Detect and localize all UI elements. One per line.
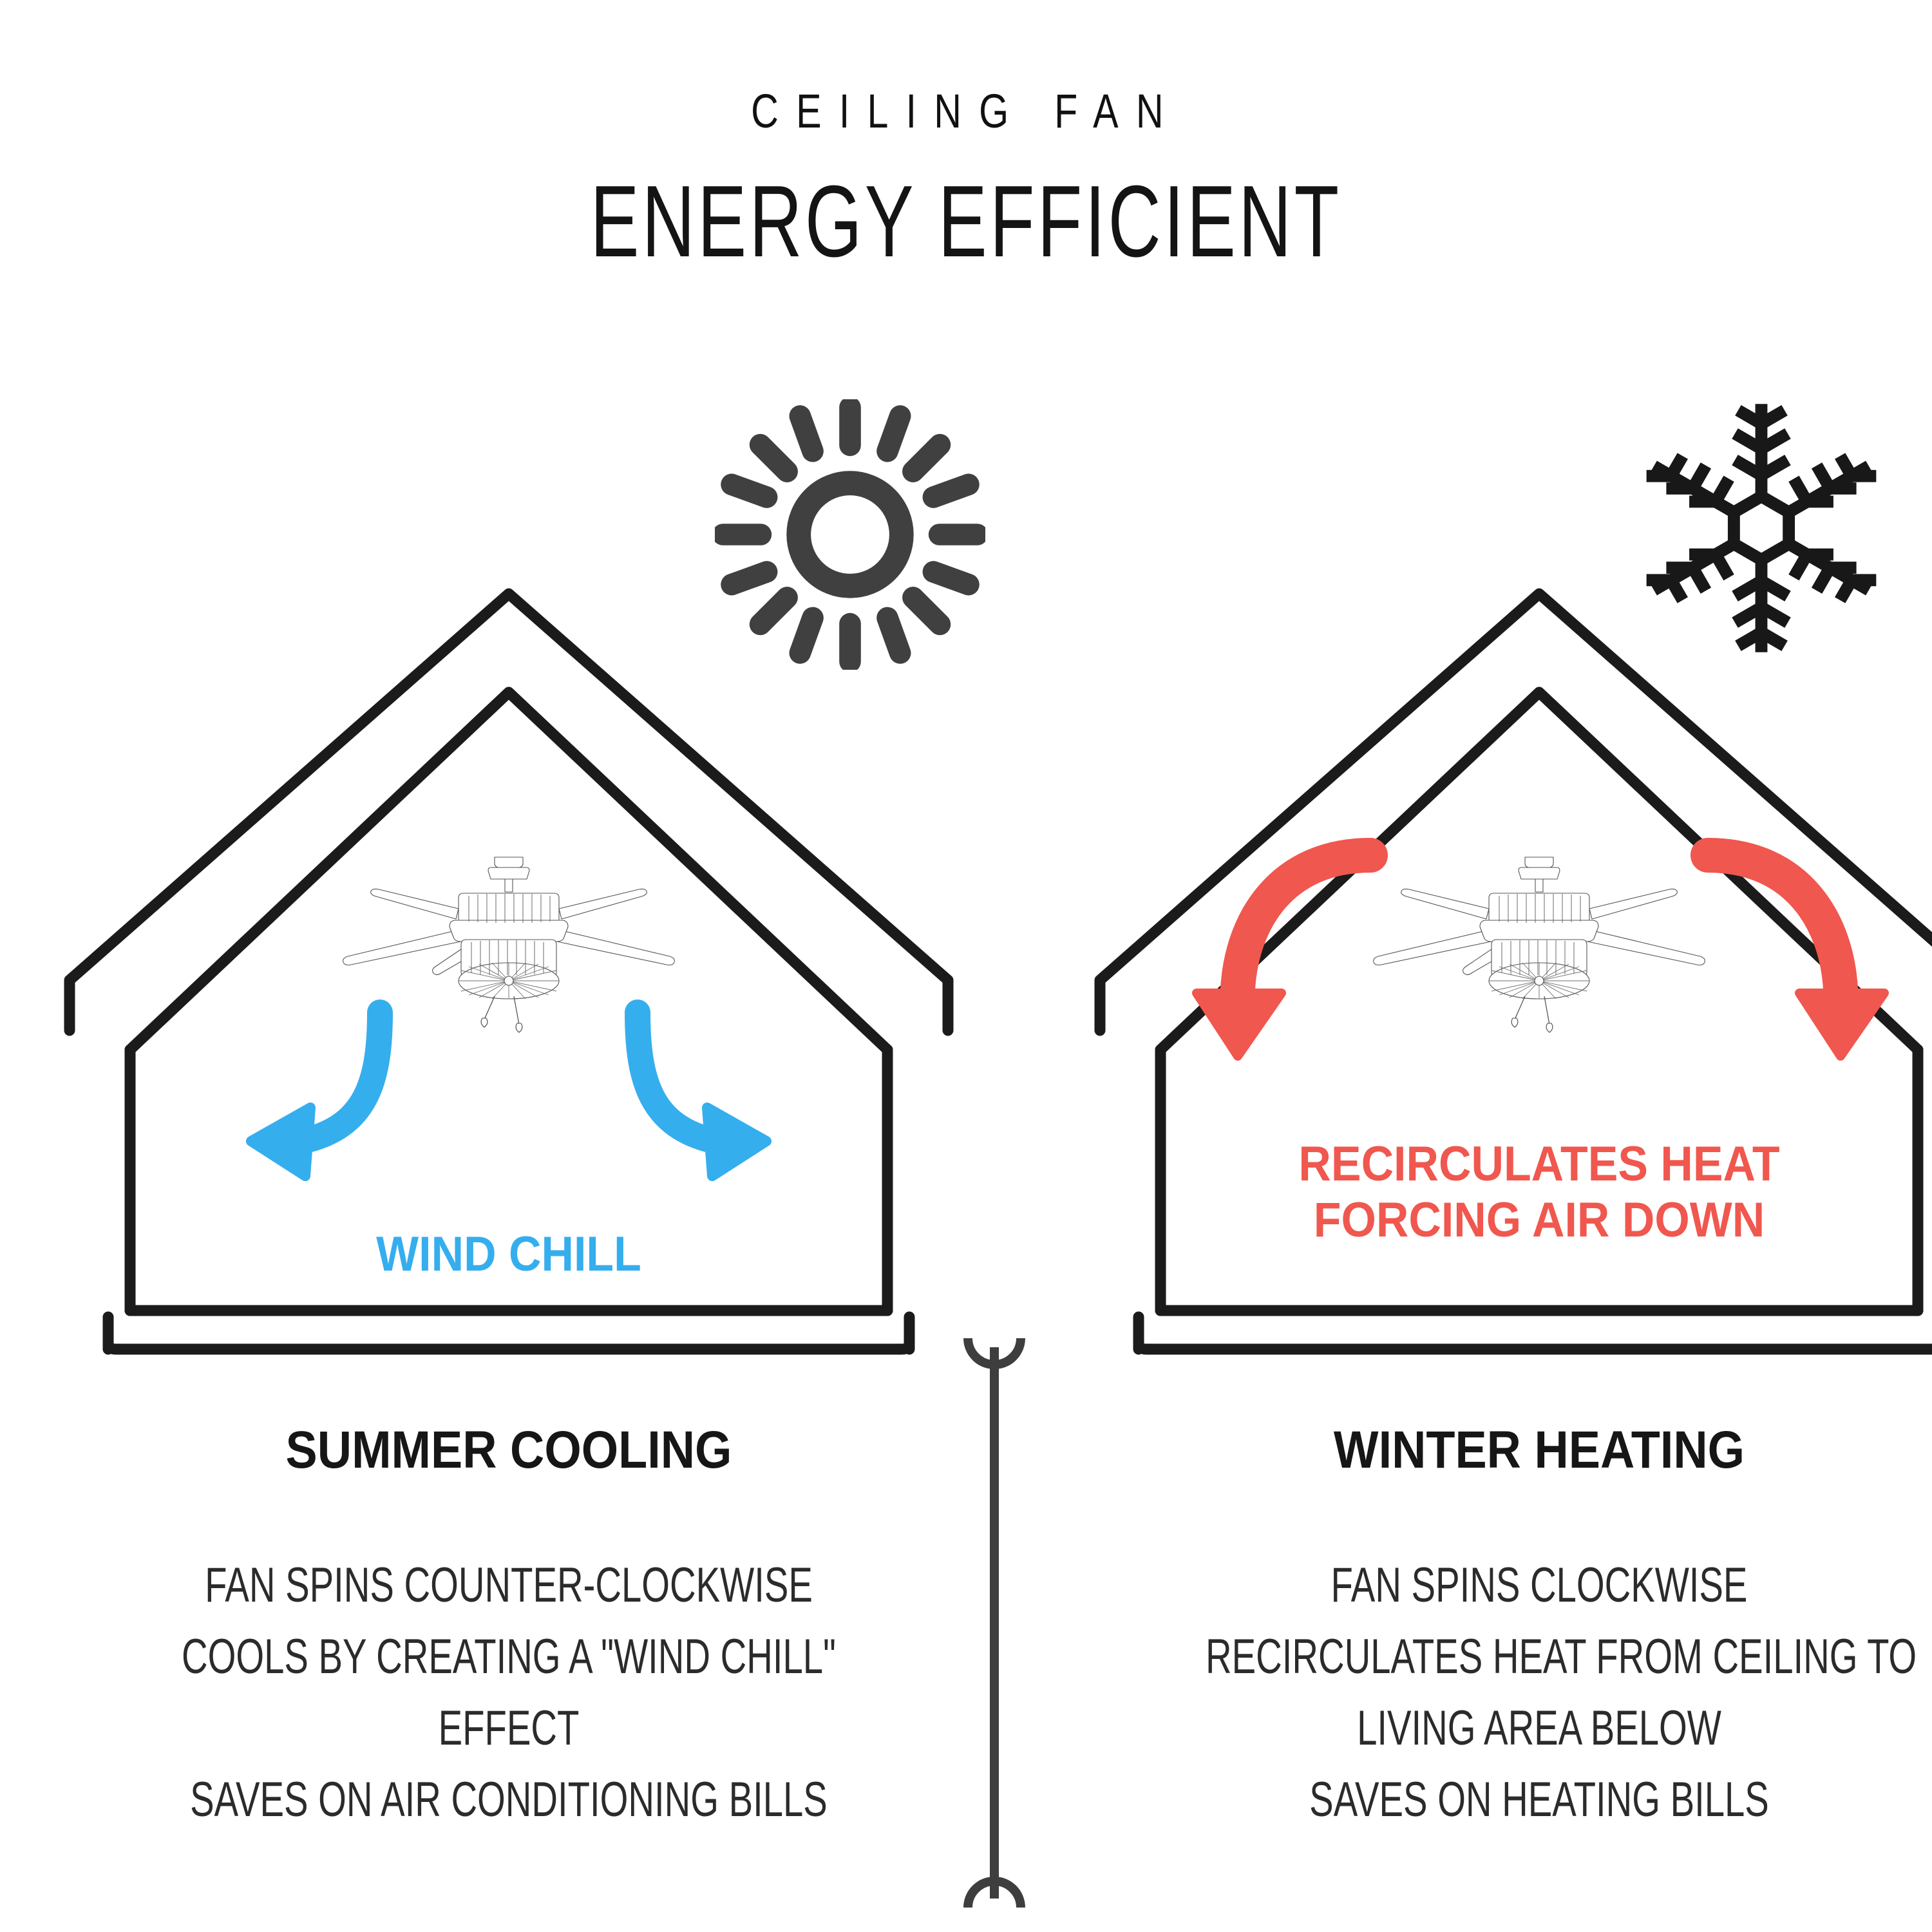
infographic-canvas: CEILING FAN ENERGY EFFICIENT	[0, 0, 1932, 1932]
caption-winter: WINTER HEATING FAN SPINS CLOCKWISE RECIR…	[1088, 1420, 1932, 1836]
ceiling-fan-illustration-summer	[309, 853, 708, 1034]
caption-summer: SUMMER COOLING FAN SPINS COUNTER-CLOCKWI…	[58, 1420, 960, 1836]
callout-summer-line-1: WIND CHILL	[94, 1227, 923, 1283]
caption-summer-line-3: EFFECT	[175, 1693, 842, 1765]
caption-summer-line-2: COOLS BY CREATING A "WIND CHILL"	[175, 1622, 842, 1693]
callout-winter-line-1: RECIRCULATES HEAT	[1124, 1137, 1932, 1193]
caption-winter-body: FAN SPINS CLOCKWISE RECIRCULATES HEAT FR…	[1088, 1550, 1932, 1836]
caption-winter-line-1: FAN SPINS CLOCKWISE	[1206, 1550, 1873, 1622]
caption-winter-line-4: SAVES ON HEATING BILLS	[1206, 1765, 1873, 1836]
page-kicker: CEILING FAN	[193, 84, 1739, 138]
caption-summer-line-4: SAVES ON AIR CONDITIONING BILLS	[175, 1765, 842, 1836]
caption-summer-line-1: FAN SPINS COUNTER-CLOCKWISE	[175, 1550, 842, 1622]
caption-winter-title: WINTER HEATING	[1133, 1420, 1932, 1481]
page-title: ENERGY EFFICIENT	[270, 171, 1662, 272]
caption-summer-title: SUMMER COOLING	[103, 1420, 914, 1481]
caption-winter-line-2: RECIRCULATES HEAT FROM CEILING TO	[1206, 1622, 1873, 1693]
caption-summer-body: FAN SPINS COUNTER-CLOCKWISE COOLS BY CRE…	[58, 1550, 960, 1836]
caption-winter-line-3: LIVING AREA BELOW	[1206, 1693, 1873, 1765]
callout-winter: RECIRCULATES HEAT FORCING AIR DOWN	[1124, 1137, 1932, 1248]
vertical-divider	[952, 1333, 1037, 1913]
callout-winter-line-2: FORCING AIR DOWN	[1124, 1193, 1932, 1249]
ceiling-fan-illustration-winter	[1340, 853, 1739, 1034]
callout-summer: WIND CHILL	[94, 1227, 923, 1283]
